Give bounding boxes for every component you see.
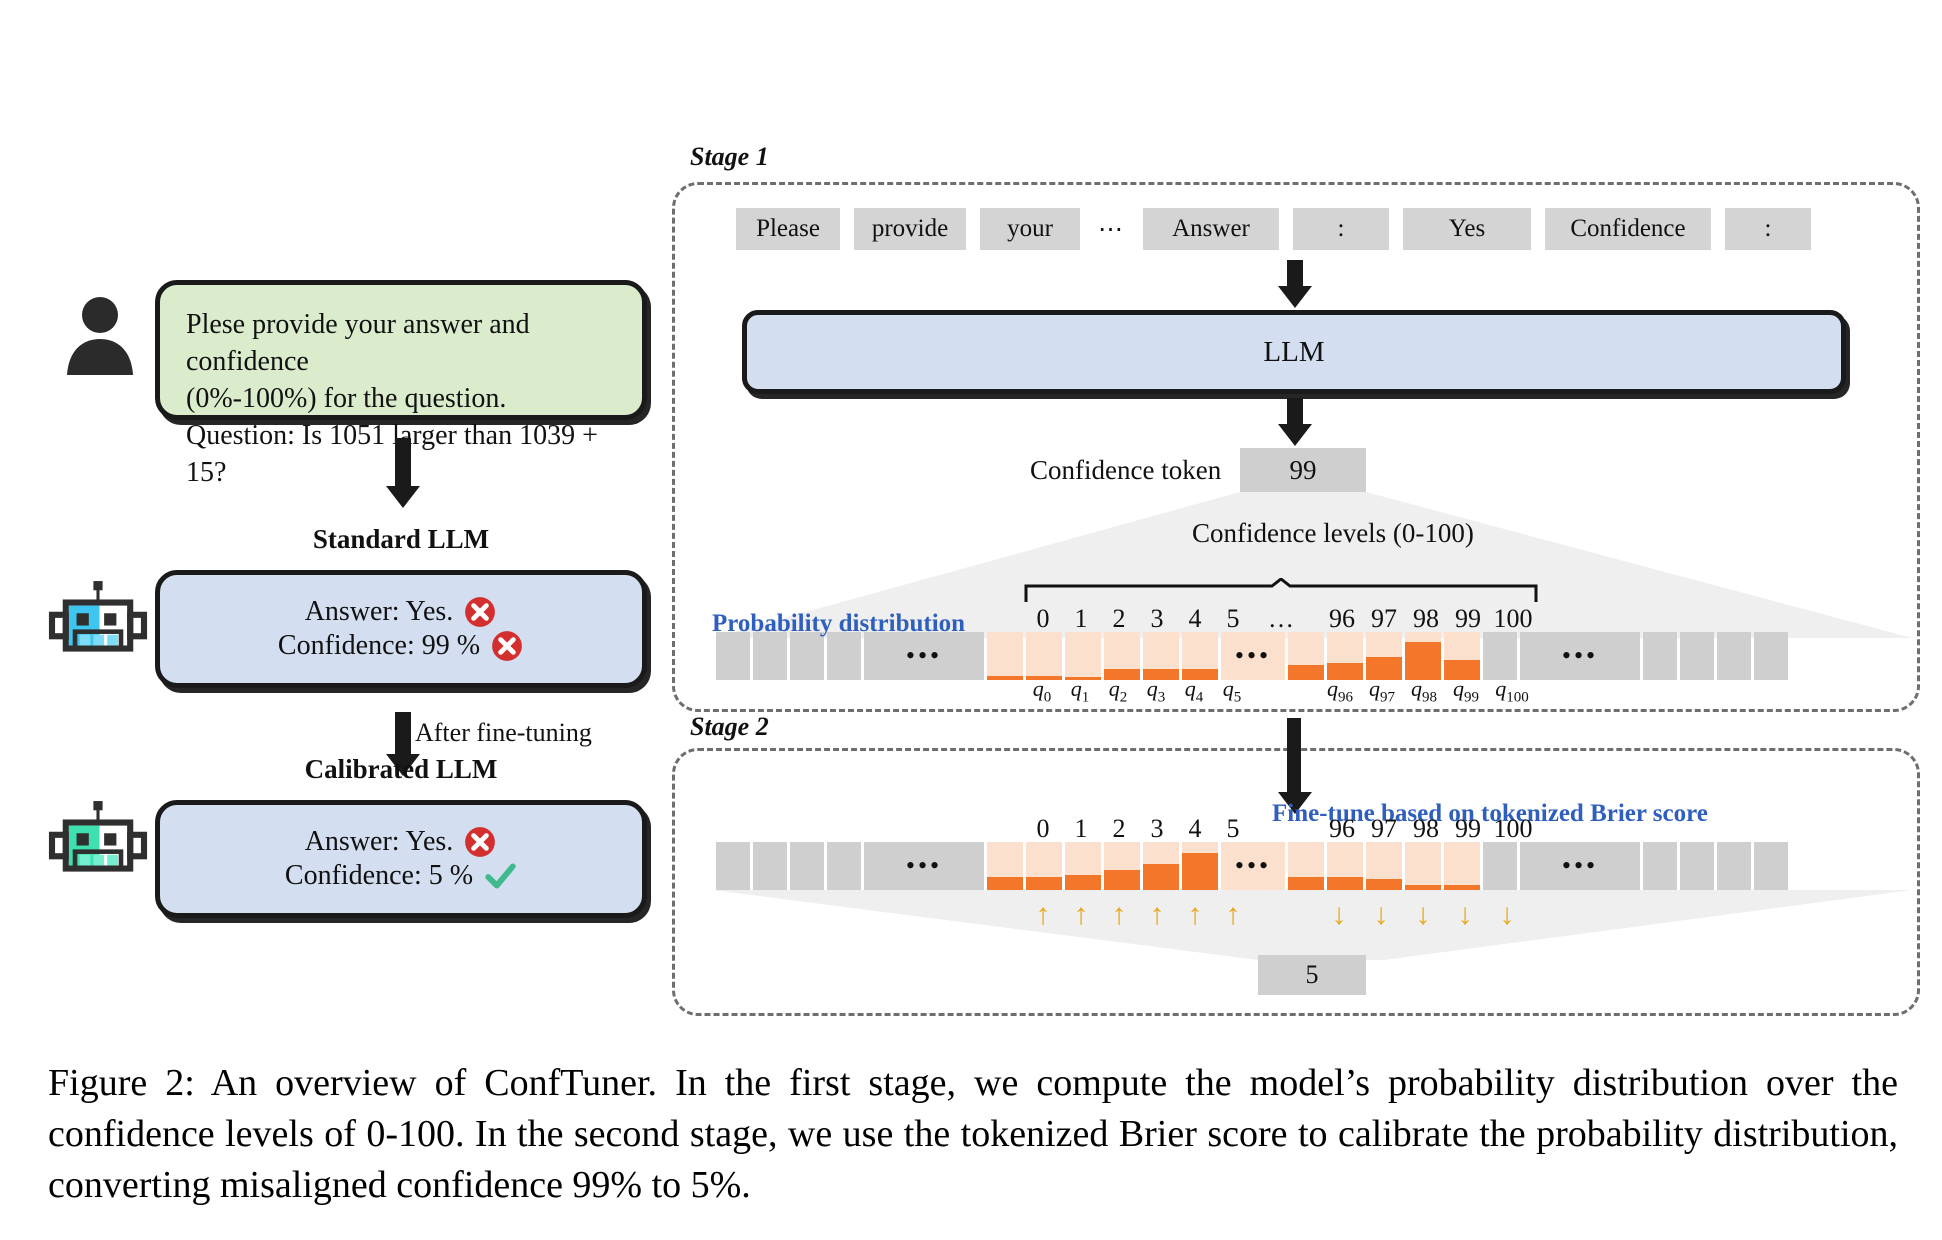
level-label-96: 96 (1318, 604, 1366, 634)
update-arrow-down-99: ↓ (1444, 898, 1486, 932)
user-prompt-bubble: Plese provide your answer and confidence… (155, 280, 647, 420)
s2-level-label-4: 4 (1174, 814, 1216, 844)
llm-model-box: LLM (742, 310, 1846, 394)
prob-cell-3 (1104, 632, 1140, 680)
level-label-98: 98 (1402, 604, 1450, 634)
s2-prob-cell-96 (1288, 842, 1324, 890)
prob-cell-5 (1182, 632, 1218, 680)
token-your[interactable]: your (980, 208, 1080, 250)
calibrated-confidence-text: Confidence: 5 % (285, 860, 473, 892)
s2-prob-cell-0 (987, 842, 1023, 890)
prompt-line-1: Plese provide your answer and confidence (186, 307, 616, 381)
standard-confidence-text: Confidence: 99 % (278, 630, 480, 662)
level-label-5: 5 (1212, 604, 1254, 634)
s2-level-label-3: 3 (1136, 814, 1178, 844)
confidence-token-label: Confidence token (1030, 455, 1221, 486)
grey-ellipsis-right: ••• (1520, 842, 1640, 890)
s2-prob-cell-1 (1026, 842, 1062, 890)
user-avatar-icon (52, 288, 148, 384)
s2-prob-cell-98 (1366, 842, 1402, 890)
level-label-97: 97 (1360, 604, 1408, 634)
token-colon-2[interactable]: : (1725, 208, 1811, 250)
prob-cell-96 (1288, 632, 1324, 680)
s2-level-label-2: 2 (1098, 814, 1140, 844)
arrow-prompt-to-standard (386, 438, 420, 510)
s2-prob-cell-97 (1327, 842, 1363, 890)
figure-caption: Figure 2: An overview of ConfTuner. In t… (48, 1058, 1898, 1211)
s2-prob-cell-5 (1182, 842, 1218, 890)
prob-cell-97 (1327, 632, 1363, 680)
grey-cell (790, 632, 824, 680)
update-arrow-down-97: ↓ (1360, 898, 1402, 932)
q-label-4: q4 (1174, 676, 1214, 706)
prob-cell-100 (1444, 632, 1480, 680)
update-arrow-up-0: ↑ (1022, 898, 1064, 932)
standard-llm-answer-bubble: Answer: Yes. Confidence: 99 % (155, 570, 647, 688)
arrow-llm-to-token (1278, 398, 1312, 448)
confidence-levels-label: Confidence levels (0-100) (1192, 518, 1474, 549)
robot-blue-icon (48, 578, 148, 670)
level-label-ellipsis: … (1256, 604, 1306, 634)
arrow-tokens-to-llm (1278, 260, 1312, 308)
s2-prob-ellipsis-middle: ••• (1221, 842, 1285, 890)
prob-cell-2 (1065, 632, 1101, 680)
calibrated-answer-line: Answer: Yes. (305, 825, 498, 859)
update-arrow-up-3: ↑ (1136, 898, 1178, 932)
q-label-5: q5 (1212, 676, 1252, 706)
s2-level-label-1: 1 (1060, 814, 1102, 844)
s2-prob-cell-100 (1444, 842, 1480, 890)
token-colon-1[interactable]: : (1293, 208, 1389, 250)
level-label-1: 1 (1060, 604, 1102, 634)
q-label-100: q100 (1482, 676, 1542, 706)
s2-level-label-5: 5 (1212, 814, 1254, 844)
stage1-label: Stage 1 (690, 142, 769, 172)
after-finetuning-label: After fine-tuning (415, 718, 592, 748)
grey-cell (716, 842, 750, 890)
level-label-4: 4 (1174, 604, 1216, 634)
q-label-0: q0 (1022, 676, 1062, 706)
level-label-2: 2 (1098, 604, 1140, 634)
stage2-funnel (712, 890, 1912, 960)
stage2-label: Stage 2 (690, 712, 769, 742)
s2-prob-cell-99 (1405, 842, 1441, 890)
grey-cell (753, 842, 787, 890)
grey-cell (1483, 632, 1517, 680)
s2-level-label-98: 98 (1402, 814, 1450, 844)
stage1-token-row: Please provide your ⋯ Answer : Yes Confi… (736, 208, 1811, 250)
token-yes[interactable]: Yes (1403, 208, 1531, 250)
s2-prob-cell-4 (1143, 842, 1179, 890)
s2-prob-cell-3 (1104, 842, 1140, 890)
q-label-3: q3 (1136, 676, 1176, 706)
prob-cell-99 (1405, 632, 1441, 680)
grey-cell (1717, 632, 1751, 680)
prob-cell-1 (1026, 632, 1062, 680)
grey-cell (790, 842, 824, 890)
output-token-value: 5 (1258, 955, 1366, 995)
level-label-100: 100 (1486, 604, 1540, 634)
s2-level-label-99: 99 (1444, 814, 1492, 844)
check-icon (483, 859, 517, 893)
q-label-1: q1 (1060, 676, 1100, 706)
probability-distribution-label: Probability distribution (712, 610, 965, 638)
standard-answer-text: Answer: Yes. (305, 596, 454, 628)
cross-icon (463, 825, 497, 859)
level-label-3: 3 (1136, 604, 1178, 634)
calibrated-llm-title: Calibrated LLM (155, 754, 647, 785)
standard-confidence-line: Confidence: 99 % (278, 629, 524, 663)
prob-cell-98 (1366, 632, 1402, 680)
calibrated-confidence-line: Confidence: 5 % (285, 859, 517, 893)
confidence-levels-brace (1022, 578, 1540, 604)
grey-cell (1680, 632, 1714, 680)
prompt-line-2: (0%-100%) for the question. (186, 381, 616, 418)
grey-cell (827, 632, 861, 680)
token-please[interactable]: Please (736, 208, 840, 250)
level-label-0: 0 (1022, 604, 1064, 634)
calibrated-llm-answer-bubble: Answer: Yes. Confidence: 5 % (155, 800, 647, 918)
stage1-distribution-strip: ••• ••• ••• (716, 632, 1791, 680)
token-provide[interactable]: provide (854, 208, 966, 250)
grey-cell (827, 842, 861, 890)
token-ellipsis: ⋯ (1094, 214, 1129, 244)
cross-icon (463, 595, 497, 629)
update-arrow-up-5: ↑ (1212, 898, 1254, 932)
figure-canvas: Plese provide your answer and confidence… (0, 0, 1942, 1240)
grey-cell (1643, 842, 1677, 890)
grey-cell (753, 632, 787, 680)
level-label-99: 99 (1444, 604, 1492, 634)
prob-cell-0 (987, 632, 1023, 680)
cross-icon (490, 629, 524, 663)
update-arrow-down-96: ↓ (1318, 898, 1360, 932)
grey-cell (1680, 842, 1714, 890)
q-label-2: q2 (1098, 676, 1138, 706)
standard-answer-line: Answer: Yes. (305, 595, 498, 629)
prob-ellipsis-middle: ••• (1221, 632, 1285, 680)
robot-green-icon (48, 798, 148, 890)
grey-cell (1754, 842, 1788, 890)
s2-level-label-0: 0 (1022, 814, 1064, 844)
grey-ellipsis-left: ••• (864, 632, 984, 680)
update-arrow-down-98: ↓ (1402, 898, 1444, 932)
s2-level-label-100: 100 (1486, 814, 1540, 844)
grey-cell (1717, 842, 1751, 890)
prob-cell-4 (1143, 632, 1179, 680)
s2-level-label-97: 97 (1360, 814, 1408, 844)
update-arrow-up-1: ↑ (1060, 898, 1102, 932)
grey-cell (1483, 842, 1517, 890)
update-arrow-down-100: ↓ (1486, 898, 1528, 932)
update-arrow-up-2: ↑ (1098, 898, 1140, 932)
stage2-distribution-strip: ••• ••• ••• (716, 842, 1791, 890)
grey-cell (1754, 632, 1788, 680)
grey-cell (716, 632, 750, 680)
grey-ellipsis-left: ••• (864, 842, 984, 890)
grey-cell (1643, 632, 1677, 680)
calibrated-answer-text: Answer: Yes. (305, 826, 454, 858)
confidence-token-value: 99 (1240, 448, 1366, 492)
grey-ellipsis-right: ••• (1520, 632, 1640, 680)
token-answer[interactable]: Answer (1143, 208, 1279, 250)
s2-prob-cell-2 (1065, 842, 1101, 890)
update-arrow-up-4: ↑ (1174, 898, 1216, 932)
token-confidence[interactable]: Confidence (1545, 208, 1711, 250)
standard-llm-title: Standard LLM (155, 524, 647, 555)
s2-level-label-96: 96 (1318, 814, 1366, 844)
